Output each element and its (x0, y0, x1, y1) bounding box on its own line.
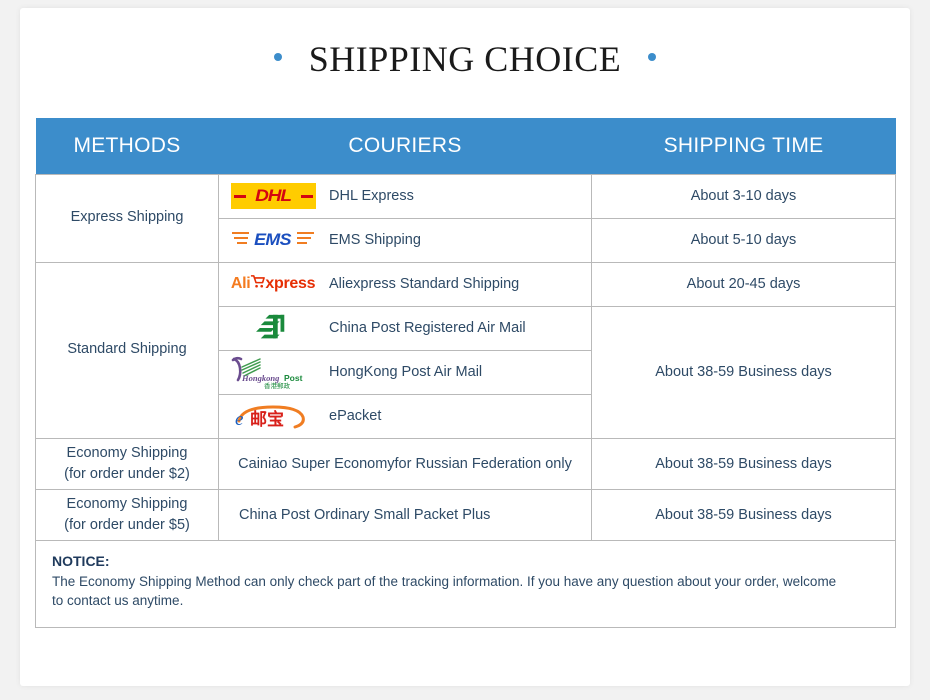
courier-aliexpress: Ali xpress (219, 262, 592, 306)
courier-name-ems: EMS Shipping (329, 232, 421, 248)
header-shipping-time: SHIPPING TIME (592, 118, 896, 174)
title-dot-left-icon (274, 53, 282, 61)
courier-china-post-ordinary: China Post Ordinary Small Packet Plus (219, 489, 592, 540)
table-header-row: METHODS COURIERS SHIPPING TIME (36, 118, 896, 174)
ali-logo-text-2: xpress (265, 275, 315, 293)
method-economy-5-line1: Economy Shipping (67, 496, 188, 512)
svg-text:香港郵政: 香港郵政 (264, 381, 291, 389)
notice-body: The Economy Shipping Method can only che… (52, 572, 842, 611)
header-methods: METHODS (36, 118, 219, 174)
courier-dhl: DHL DHL Express (219, 174, 592, 218)
time-aliexpress: About 20-45 days (592, 262, 896, 306)
method-economy-2-line1: Economy Shipping (67, 445, 188, 461)
shopping-cart-icon (250, 274, 265, 294)
content-card: SHIPPING CHOICE METHODS COURIERS SHIPPIN… (20, 8, 910, 686)
svg-text:Post: Post (284, 373, 303, 383)
table-row: Express Shipping DHL DHL Express (36, 174, 896, 218)
aliexpress-logo-icon: Ali xpress (227, 267, 319, 301)
method-economy-shipping-5: Economy Shipping (for order under $5) (36, 489, 219, 540)
hongkong-post-logo-icon: Hongkong Post 香港郵政 (227, 355, 319, 389)
courier-name-aliexpress: Aliexpress Standard Shipping (329, 276, 519, 292)
method-economy-5-line2: (for order under $5) (64, 517, 190, 533)
time-ems: About 5-10 days (592, 218, 896, 262)
courier-ems: EMS EMS Shipping (219, 218, 592, 262)
method-economy-2-line2: (for order under $2) (64, 466, 190, 482)
method-express-shipping: Express Shipping (36, 174, 219, 262)
table-row: Standard Shipping Ali (36, 262, 896, 306)
table-row: Economy Shipping (for order under $5) Ch… (36, 489, 896, 540)
method-standard-shipping: Standard Shipping (36, 262, 219, 438)
courier-epacket: e 邮宝 ePacket (219, 394, 592, 438)
time-standard-group: About 38-59 Business days (592, 306, 896, 438)
courier-name-hongkong-post: HongKong Post Air Mail (329, 364, 482, 380)
notice-row: NOTICE: The Economy Shipping Method can … (36, 540, 896, 627)
courier-china-post-registered: China Post Registered Air Mail (219, 306, 592, 350)
table-row: Economy Shipping (for order under $2) Ca… (36, 438, 896, 489)
epacket-logo-icon: e 邮宝 (227, 399, 319, 433)
svg-text:e: e (235, 409, 243, 430)
header-couriers: COURIERS (219, 118, 592, 174)
courier-name-dhl: DHL Express (329, 188, 414, 204)
ems-logo-text: EMS (255, 230, 292, 250)
page-title: SHIPPING CHOICE (20, 38, 910, 80)
svg-text:邮宝: 邮宝 (250, 409, 284, 429)
ali-logo-text-1: Ali (231, 275, 251, 293)
courier-cainiao: Cainiao Super Economyfor Russian Federat… (219, 438, 592, 489)
svg-text:Hongkong: Hongkong (241, 373, 280, 383)
dhl-logo-icon: DHL (227, 179, 319, 213)
time-dhl: About 3-10 days (592, 174, 896, 218)
time-economy-5: About 38-59 Business days (592, 489, 896, 540)
dhl-logo-text: DHL (255, 186, 291, 206)
page-title-text: SHIPPING CHOICE (309, 38, 622, 80)
title-dot-right-icon (648, 53, 656, 61)
courier-name-epacket: ePacket (329, 408, 381, 424)
china-post-logo-icon (227, 311, 319, 345)
courier-hongkong-post: Hongkong Post 香港郵政 HongKong Post Air Mai… (219, 350, 592, 394)
method-economy-shipping-2: Economy Shipping (for order under $2) (36, 438, 219, 489)
time-economy-2: About 38-59 Business days (592, 438, 896, 489)
notice-label: NOTICE: (52, 553, 879, 569)
shipping-choice-page: SHIPPING CHOICE METHODS COURIERS SHIPPIN… (0, 0, 930, 700)
shipping-table: METHODS COURIERS SHIPPING TIME Express S… (35, 118, 896, 628)
courier-name-china-post-registered: China Post Registered Air Mail (329, 320, 526, 336)
notice-block: NOTICE: The Economy Shipping Method can … (36, 540, 896, 627)
ems-logo-icon: EMS (227, 223, 319, 257)
